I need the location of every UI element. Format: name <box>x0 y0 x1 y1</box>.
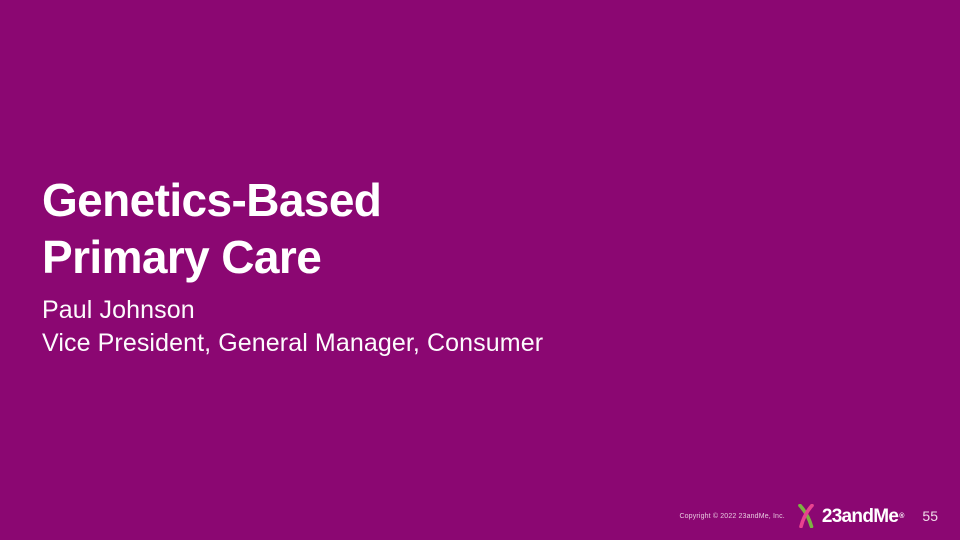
copyright-text: Copyright © 2022 23andMe, Inc. <box>679 513 784 520</box>
page-title: Genetics-BasedPrimary Care <box>42 172 381 286</box>
title-block: Genetics-BasedPrimary Care <box>42 172 381 286</box>
brand-wordmark: 23andMe <box>822 507 898 526</box>
slide-footer: Copyright © 2022 23andMe, Inc. 23andMe® … <box>0 500 960 532</box>
23andme-chromosome-icon <box>797 504 819 528</box>
presenter-name: Paul Johnson <box>42 294 543 327</box>
presenter-role: Vice President, General Manager, Consume… <box>42 327 543 360</box>
registered-trademark-icon: ® <box>899 513 904 520</box>
title-line-2: Primary Care <box>42 229 381 286</box>
brand-logo: 23andMe® <box>797 504 905 528</box>
subtitle-block: Paul Johnson Vice President, General Man… <box>42 294 543 360</box>
title-line-1: Genetics-Based <box>42 174 381 226</box>
page-number: 55 <box>922 509 938 523</box>
presentation-slide: Genetics-BasedPrimary Care Paul Johnson … <box>0 0 960 540</box>
